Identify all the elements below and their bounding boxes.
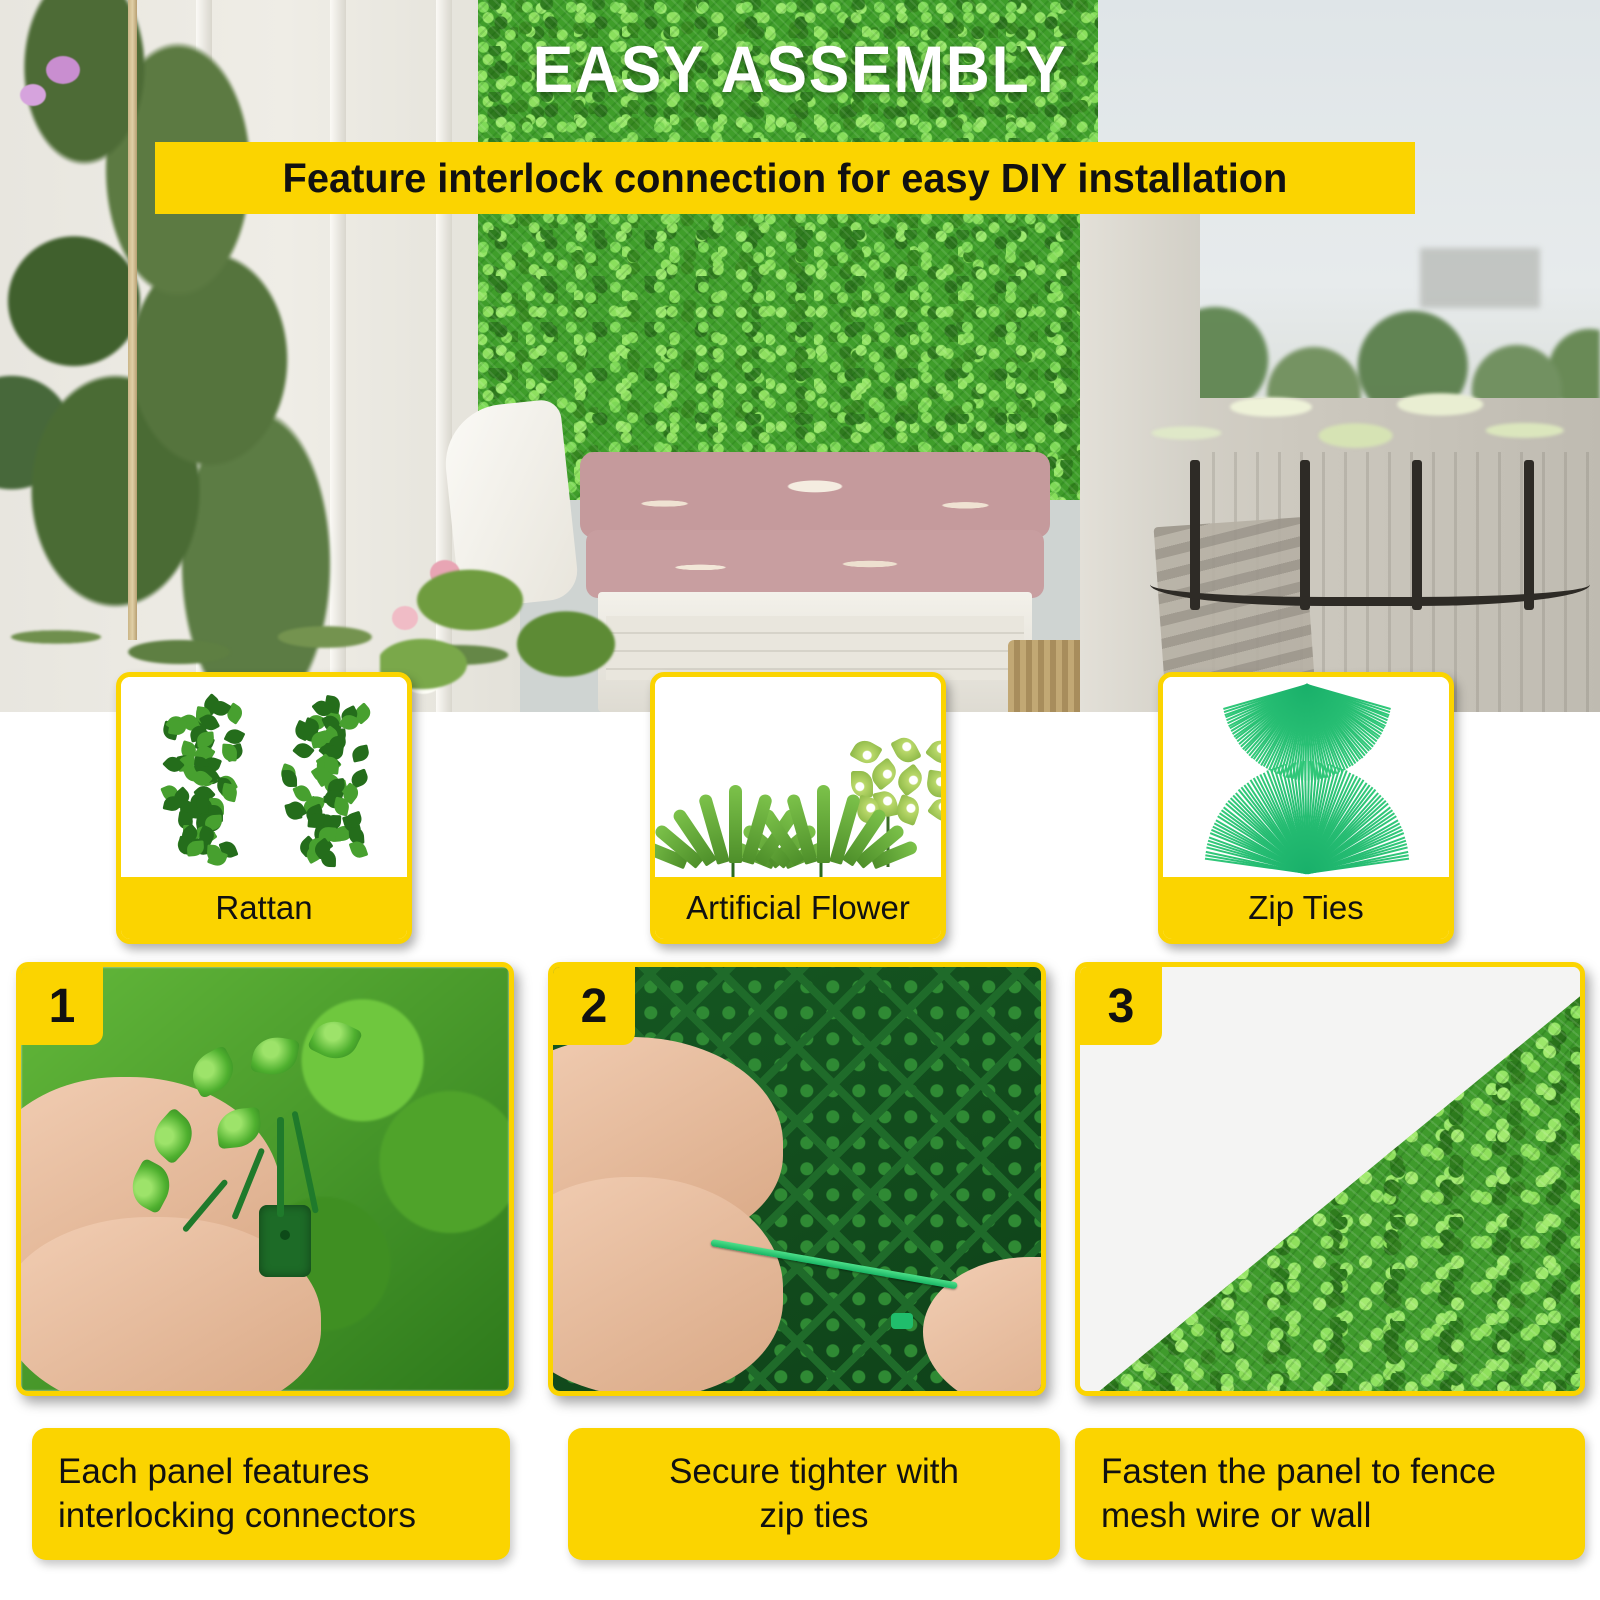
page-title: EASY ASSEMBLY xyxy=(64,36,1536,102)
panel-connector-clip xyxy=(259,1205,311,1277)
step-number-badge: 1 xyxy=(21,967,103,1045)
subtitle-text: Feature interlock connection for easy DI… xyxy=(283,155,1288,202)
step-3-image: 3 xyxy=(1075,962,1585,1396)
part-label: Zip Ties xyxy=(1163,877,1449,939)
subtitle-banner: Feature interlock connection for easy DI… xyxy=(155,142,1415,214)
part-card-artificial-flower[interactable]: Artificial Flower xyxy=(650,672,946,944)
part-card-zip-ties[interactable]: Zip Ties xyxy=(1158,672,1454,944)
step-caption: Secure tighter with zip ties xyxy=(568,1428,1060,1560)
part-label: Artificial Flower xyxy=(655,877,941,939)
fern-spray-icon xyxy=(655,677,941,877)
step-number-badge: 2 xyxy=(553,967,635,1045)
part-label: Rattan xyxy=(121,877,407,939)
step-1-image: 1 xyxy=(16,962,514,1396)
leaf-stem xyxy=(277,1117,284,1217)
balcony-foliage xyxy=(1130,355,1600,485)
step-caption: Each panel features interlocking connect… xyxy=(32,1428,510,1560)
part-card-rattan[interactable]: Rattan xyxy=(116,672,412,944)
geranium-foliage xyxy=(380,520,680,712)
hero-photo: EASY ASSEMBLY xyxy=(0,0,1600,712)
zip-tie-fan-icon xyxy=(1163,677,1449,877)
zip-tie-head xyxy=(891,1313,913,1329)
product-infographic: EASY ASSEMBLY Feature interlock connecti… xyxy=(0,0,1600,1600)
pink-flower xyxy=(20,84,46,106)
ivy-vine-icon xyxy=(121,677,407,877)
step-number-badge: 3 xyxy=(1080,967,1162,1045)
step-2-image: 2 xyxy=(548,962,1046,1396)
step-caption: Fasten the panel to fence mesh wire or w… xyxy=(1075,1428,1585,1560)
